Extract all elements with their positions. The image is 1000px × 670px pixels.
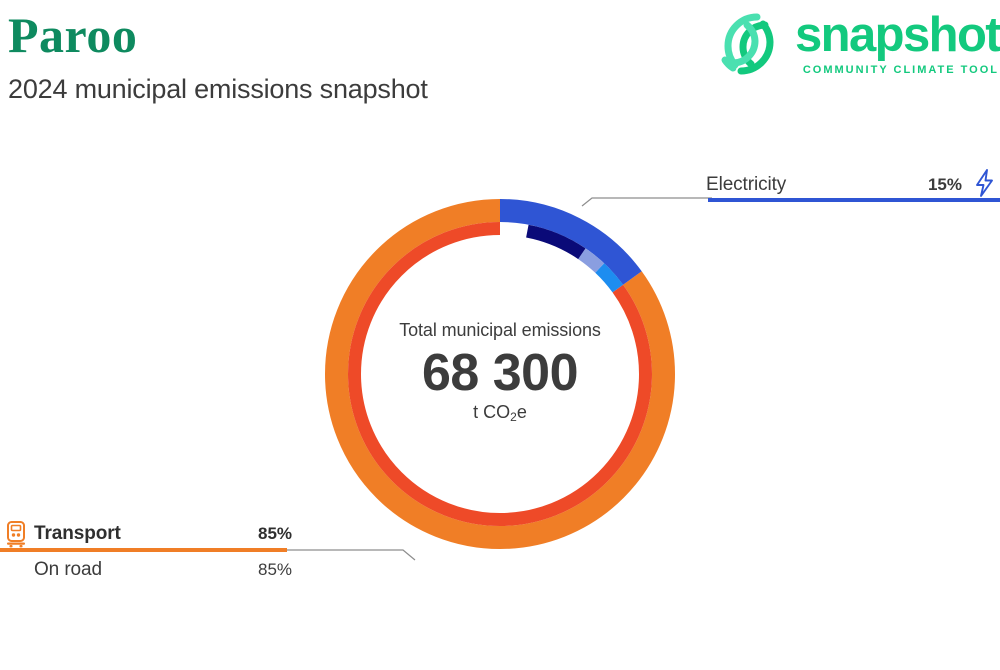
legend-transport-row: Transport 85% [0,520,420,548]
legend-transport-label: Transport [34,523,121,545]
legend-item-electricity[interactable]: Electricity 15% [586,172,1000,198]
donut-center-value: 68 300 [320,342,680,404]
unit-prefix: t CO [473,402,510,422]
page-title: Paroo [8,6,137,64]
page-subtitle: 2024 municipal emissions snapshot [8,72,428,106]
legend-electricity-label: Electricity [706,174,786,196]
emissions-donut-chart: Total municipal emissions 68 300 t CO2e [320,194,680,554]
legend-electricity-row: Electricity 15% [586,172,1000,198]
brand-text-block: snapshot COMMUNITY CLIMATE TOOL [795,6,1000,77]
brand-logo: snapshot COMMUNITY CLIMATE TOOL [713,6,1000,88]
brand-tagline: COMMUNITY CLIMATE TOOL [803,63,999,77]
lightning-bolt-icon [972,168,998,198]
legend-electricity-percent: 15% [928,175,962,195]
legend-transport-subitem-on-road[interactable]: On road 85% [0,556,420,584]
donut-center-label: Total municipal emissions [320,320,680,341]
snapshot-spiral-icon [713,8,785,80]
legend-transport-percent: 85% [258,524,292,544]
donut-center-unit: t CO2e [320,402,680,423]
electricity-value-bar [708,198,1000,202]
unit-suffix: e [517,402,527,422]
legend-on-road-label: On road [34,559,102,581]
train-icon [4,520,28,548]
legend-item-transport[interactable]: Transport 85% On road 85% [0,520,420,584]
brand-wordmark: snapshot [795,8,1000,62]
transport-value-bar [0,548,287,552]
header: Paroo 2024 municipal emissions snapshot … [0,0,1000,120]
unit-subscript: 2 [510,410,517,424]
legend-on-road-percent: 85% [258,560,292,580]
